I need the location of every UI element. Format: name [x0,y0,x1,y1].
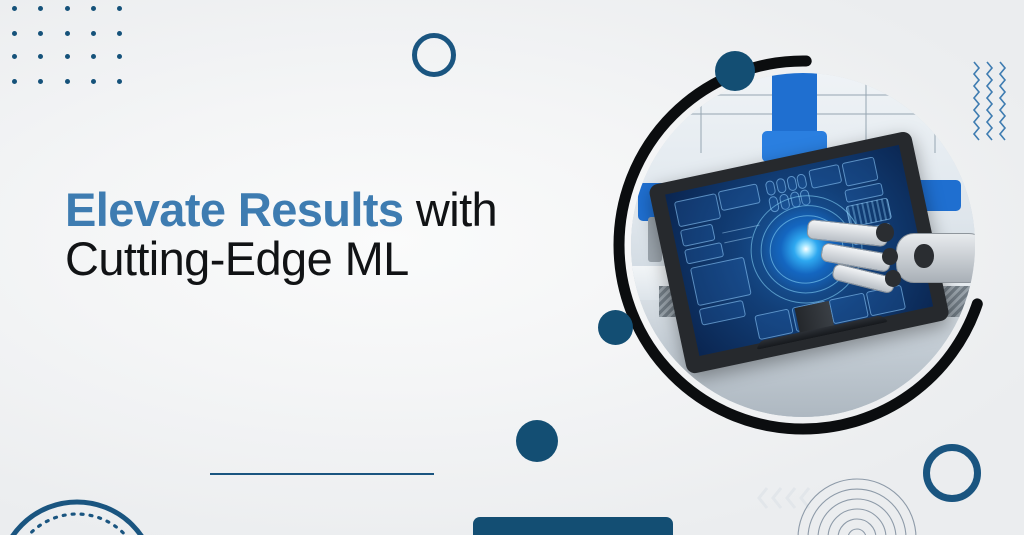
circle-outline-bottom-right-icon [923,444,981,502]
fingerprint-arcs-decoration [795,478,920,535]
filled-circle-mid-icon [516,420,558,462]
hero-ring-arc [613,55,993,435]
circle-outline-top-icon [412,33,456,77]
headline-line-2: Cutting-Edge ML [65,235,585,284]
headline-accent-text: Elevate Results [65,183,403,236]
corner-circles-decoration [0,470,162,535]
headline-regular-text: with [403,183,497,236]
filled-circle-upper-icon [715,51,755,91]
hero-banner: Elevate Results with Cutting-Edge ML [0,0,1024,535]
page-title: Elevate Results with Cutting-Edge ML [65,186,585,284]
filled-circle-left-icon [598,310,633,345]
hero-image-container [613,55,993,435]
divider-rule [210,473,434,475]
headline-line-1: Elevate Results with [65,186,585,235]
cta-button[interactable] [473,517,673,535]
